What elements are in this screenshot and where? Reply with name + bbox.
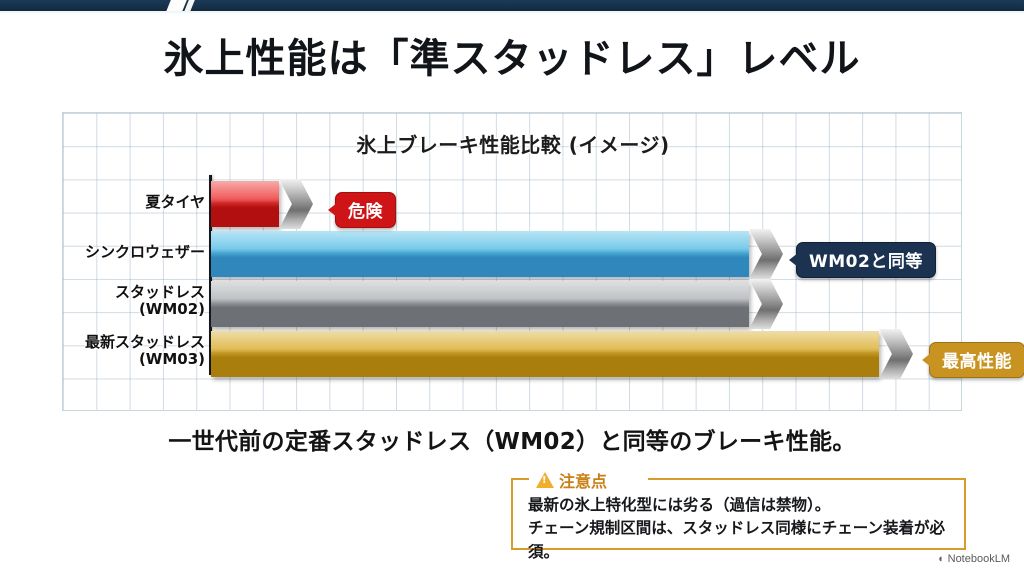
chart-row-label: シンクロウェザー [35,244,205,261]
chart-row-1: 夏タイヤ [63,181,963,227]
chart-bar [211,181,279,227]
chart-bar-wrapper [211,231,783,277]
note-heading-label: 注意点 [559,468,607,492]
chart-row-label-main: スタッドレス [115,283,205,301]
chart-bar [211,231,749,277]
chart-bar-gloss [211,231,749,252]
chart-bar [211,281,749,327]
top-bar-underline [0,11,1024,14]
chart-callout-badge: WM02と同等 [796,242,936,278]
watermark: ◖ NotebookLM [937,553,1010,565]
warning-triangle-icon [536,472,554,488]
watermark-label: NotebookLM [948,553,1010,565]
chart-row-label: スタッドレス(WM02) [35,284,205,318]
chart-bar-wrapper [211,181,313,227]
chart-caption: 一世代前の定番スタッドレス（WM02）と同等のブレーキ性能。 [0,422,1024,456]
note-line-2: チェーン規制区間は、スタッドレス同様にチェーン装着が必須。 [528,517,960,564]
chart-row-3: スタッドレス(WM02) [63,281,963,327]
chart-bar-gloss [211,181,279,202]
note-line-1: 最新の氷上特化型には劣る（過信は禁物）。 [528,494,960,517]
notebooklm-icon: ◖ [937,553,944,565]
chart-callout-badge: 最高性能 [929,342,1024,378]
chart-row-label-sub: (WM03) [35,351,205,368]
chart-row-4: 最新スタッドレス(WM03) [63,331,963,377]
chart-bar-gloss [211,331,879,352]
chart-callout-badge: 危険 [335,192,396,228]
chart-row-label-main: 最新スタッドレス [85,333,205,351]
chart-bar-wrapper [211,281,783,327]
chart-row-label-main: シンクロウェザー [85,243,205,261]
chart-bar-chevron-cap-icon [749,279,783,329]
chart-row-label: 最新スタッドレス(WM03) [35,334,205,368]
chart-bar-chevron-cap-icon [279,179,313,229]
chart-bar [211,331,879,377]
chart-title: 氷上ブレーキ性能比較 (イメージ) [63,129,963,158]
bar-chart: 氷上ブレーキ性能比較 (イメージ) 夏タイヤシンクロウェザースタッドレス(WM0… [62,112,962,411]
note-heading: 注意点 [531,468,612,492]
chart-bar-wrapper [211,331,913,377]
chart-bar-chevron-cap-icon [879,329,913,379]
chart-bar-chevron-cap-icon [749,229,783,279]
page-title: 氷上性能は「準スタッドレス」レベル [0,26,1024,84]
top-accent-bar [0,0,1024,11]
chart-row-label-sub: (WM02) [35,301,205,318]
chart-row-label-main: 夏タイヤ [145,193,205,211]
chart-row-label: 夏タイヤ [35,194,205,211]
chart-bar-gloss [211,281,749,302]
note-body: 最新の氷上特化型には劣る（過信は禁物）。 チェーン規制区間は、スタッドレス同様に… [528,494,960,564]
